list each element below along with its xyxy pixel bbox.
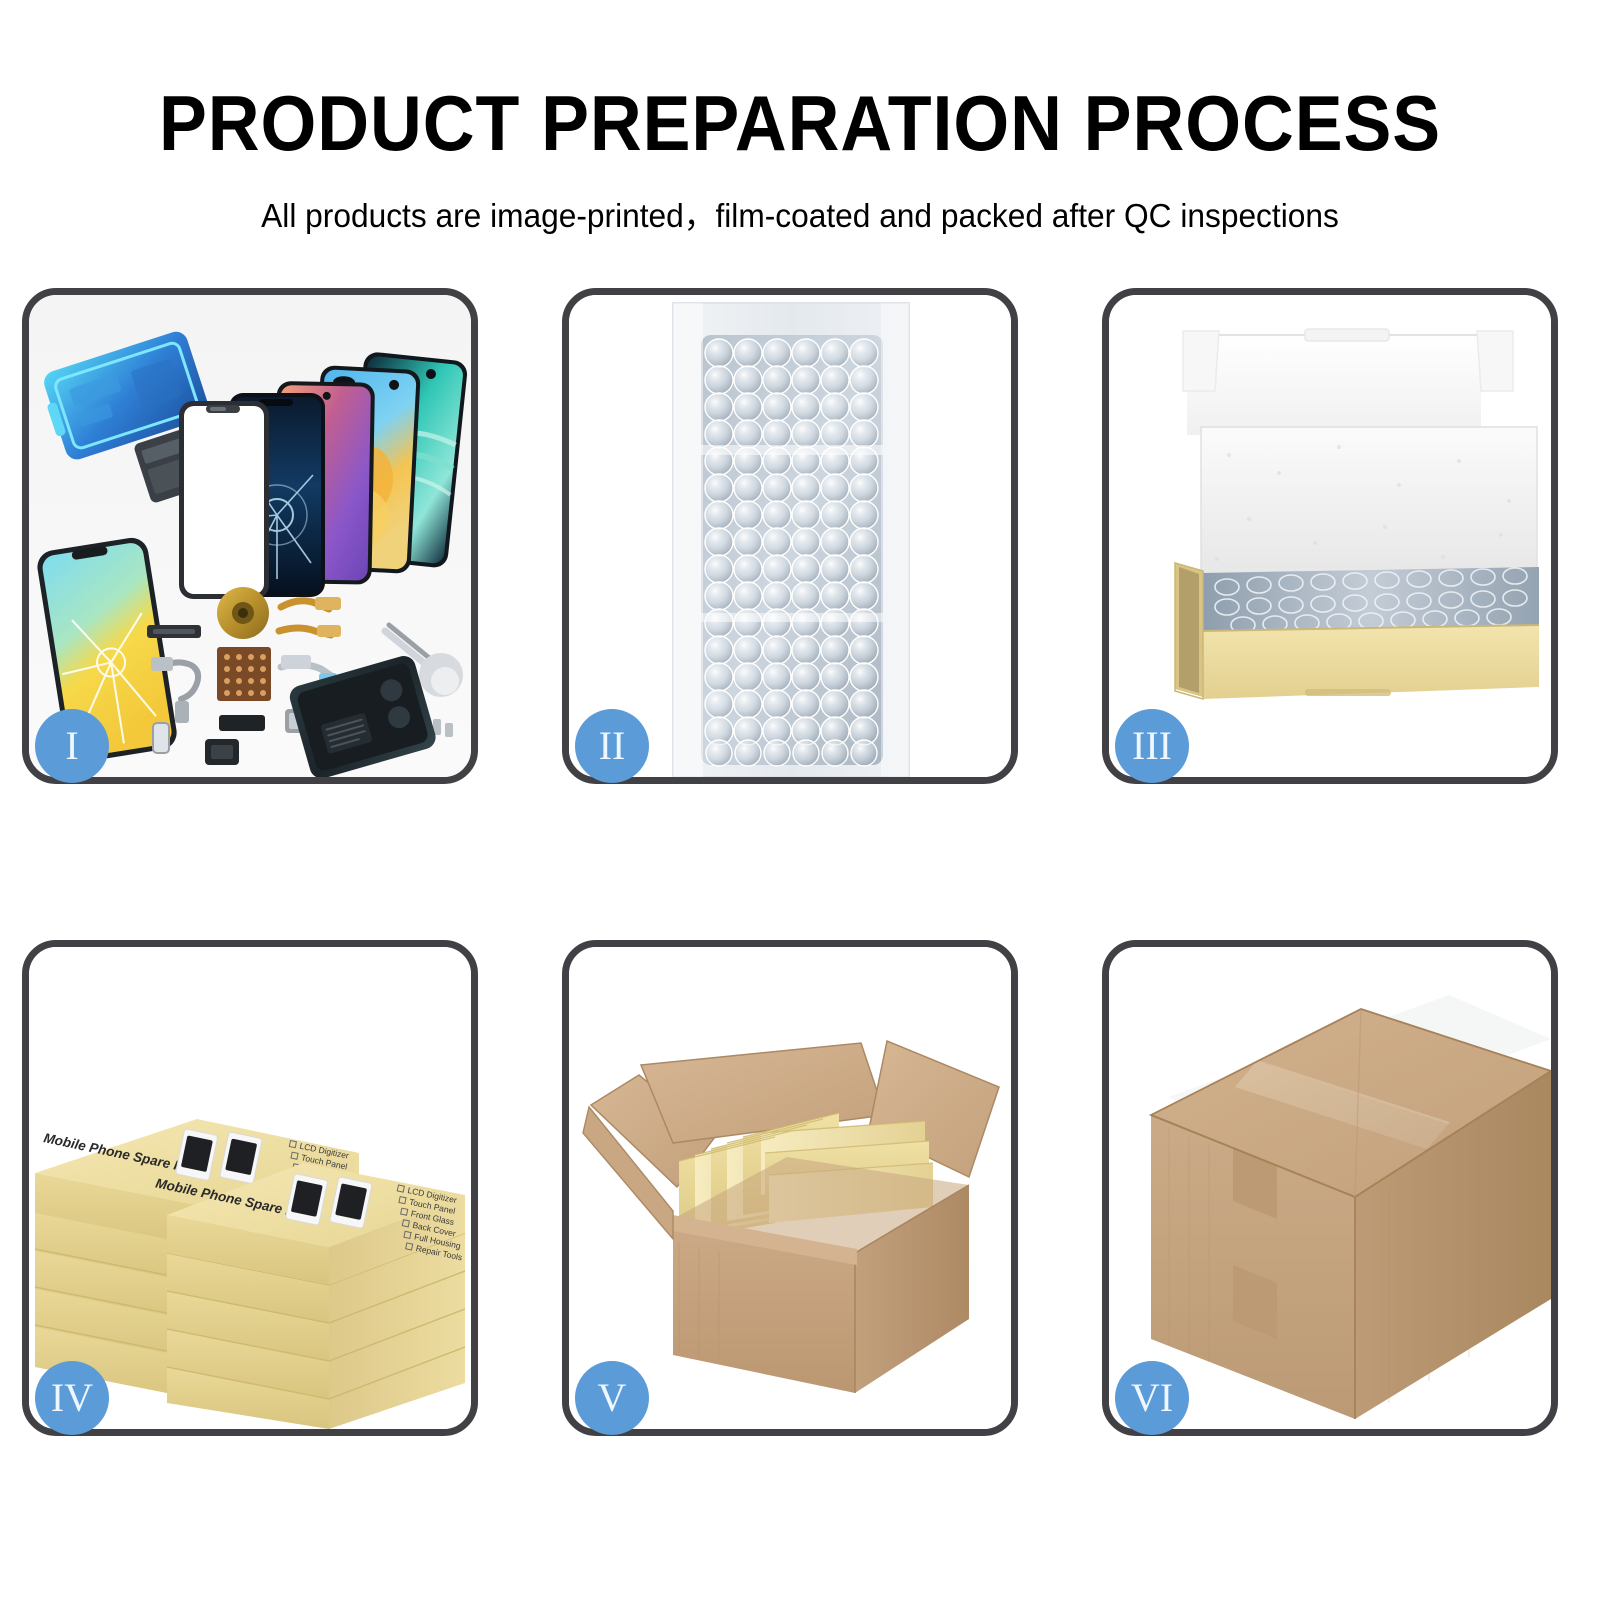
step-badge-1: I	[35, 709, 109, 783]
step-image-5	[569, 947, 1011, 1429]
step-image-2	[569, 295, 1011, 777]
steps-grid: 08	[22, 288, 1578, 1436]
step-card-1: 08	[22, 288, 478, 784]
step-card-3: III	[1102, 288, 1558, 784]
step-image-6	[1109, 947, 1551, 1429]
header: PRODUCT PREPARATION PROCESS All products…	[0, 0, 1600, 237]
sealed-carton-illustration	[1109, 947, 1551, 1429]
step-badge-4: IV	[35, 1361, 109, 1435]
page-subtitle: All products are image-printed，film-coat…	[32, 169, 1568, 237]
step-card-6: VI	[1102, 940, 1558, 1436]
step-card-2: II	[562, 288, 1018, 784]
open-carton-illustration	[569, 947, 1011, 1429]
step-card-5: V	[562, 940, 1018, 1436]
step-image-4: Mobile Phone Spare Parts LCD Digitizer	[29, 947, 471, 1429]
step-image-3	[1109, 295, 1551, 777]
infographic-page: PRODUCT PREPARATION PROCESS All products…	[0, 0, 1600, 1600]
open-mailer-box-illustration	[1109, 295, 1551, 777]
page-title: PRODUCT PREPARATION PROCESS	[64, 0, 1536, 169]
step-badge-2: II	[575, 709, 649, 783]
step-image-1: 08	[29, 295, 471, 777]
step-card-4: Mobile Phone Spare Parts LCD Digitizer	[22, 940, 478, 1436]
step-badge-5: V	[575, 1361, 649, 1435]
step-badge-6: VI	[1115, 1361, 1189, 1435]
products-collage-illustration: 08	[29, 295, 471, 777]
step-badge-3: III	[1115, 709, 1189, 783]
bubble-wrap-illustration	[569, 295, 1011, 777]
stacked-boxes-illustration: Mobile Phone Spare Parts LCD Digitizer	[29, 947, 471, 1429]
